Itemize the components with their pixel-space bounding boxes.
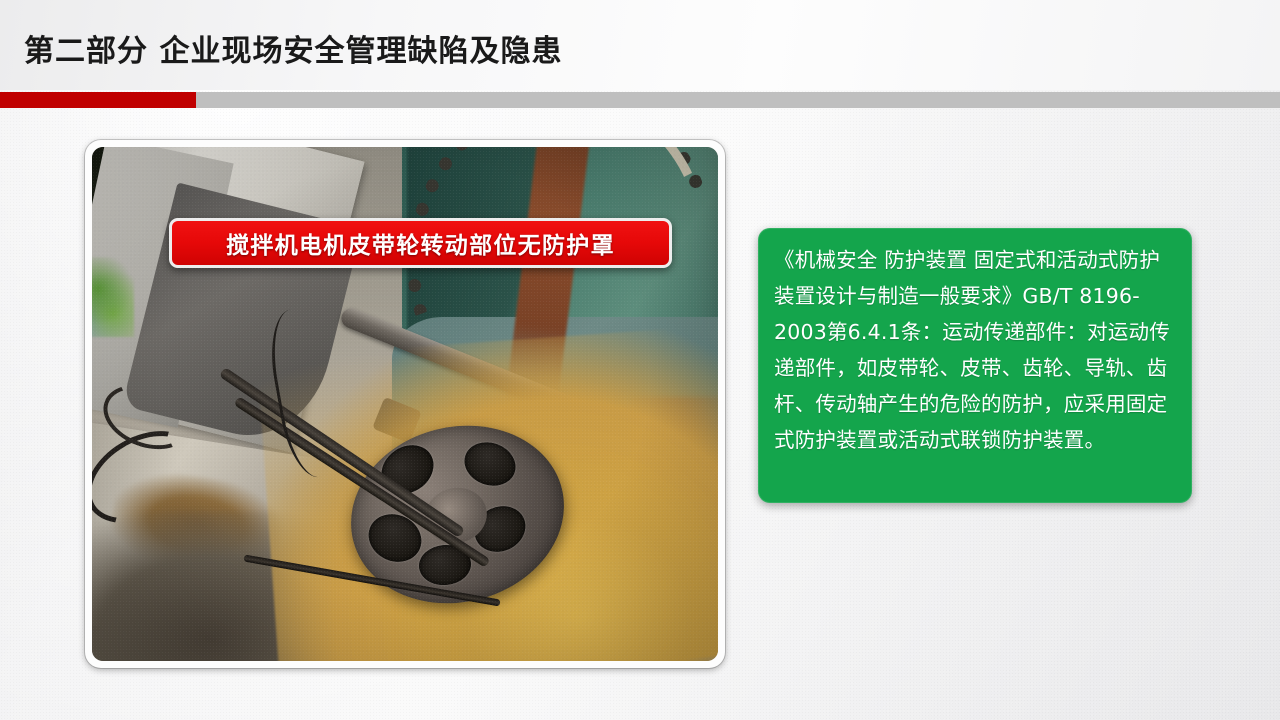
accent-rule (0, 92, 1280, 108)
site-photo: 搅拌机电机皮带轮转动部位无防护罩 (92, 147, 718, 661)
slide-header: 第二部分 企业现场安全管理缺陷及隐患 (0, 0, 1280, 90)
photo-caption-text: 搅拌机电机皮带轮转动部位无防护罩 (226, 226, 615, 260)
slide-canvas: 第二部分 企业现场安全管理缺陷及隐患 (0, 0, 1280, 720)
page-title: 第二部分 企业现场安全管理缺陷及隐患 (24, 26, 562, 70)
photo-card: 搅拌机电机皮带轮转动部位无防护罩 (85, 140, 725, 668)
standard-citation-text: 《机械安全 防护装置 固定式和活动式防护装置设计与制造一般要求》GB/T 819… (774, 242, 1178, 458)
accent-rule-red-segment (0, 92, 196, 108)
standard-citation-box: 《机械安全 防护装置 固定式和活动式防护装置设计与制造一般要求》GB/T 819… (758, 228, 1192, 503)
photo-caption-banner: 搅拌机电机皮带轮转动部位无防护罩 (169, 218, 672, 268)
